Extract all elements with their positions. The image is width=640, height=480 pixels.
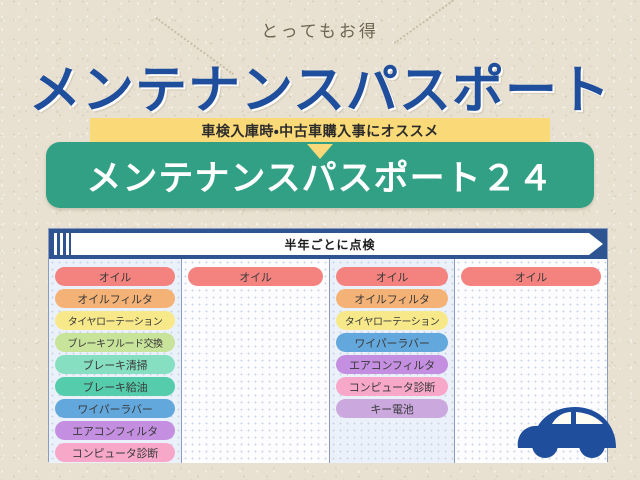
maintenance-item-pill: オイル	[336, 267, 448, 286]
plan-column-2: オイル	[182, 259, 330, 463]
maintenance-item-pill: ワイパーラバー	[55, 399, 175, 418]
kicker-dash-left-decoration	[133, 12, 251, 46]
maintenance-item-pill: エアコンフィルタ	[55, 421, 175, 440]
car-wheel-right-shape	[579, 432, 605, 458]
maintenance-item-pill: オイルフィルタ	[55, 289, 175, 308]
maintenance-item-pill: ブレーキ給油	[55, 377, 175, 396]
inspection-interval-label: 半年ごとに点検	[284, 236, 375, 253]
maintenance-item-pill: エアコンフィルタ	[336, 355, 448, 374]
recommend-banner-notch-icon	[307, 144, 333, 159]
plan-column-1: オイルオイルフィルタタイヤローテーションブレーキフルード交換ブレーキ清掃ブレーキ…	[49, 259, 182, 463]
plan-column-3: オイルオイルフィルタタイヤローテーションワイパーラバーエアコンフィルタコンピュー…	[330, 259, 455, 463]
arrow-tail-stripe-icon	[60, 233, 63, 255]
arrow-tail-stripe-icon	[66, 233, 69, 255]
maintenance-item-pill: オイル	[461, 267, 601, 286]
arrow-tail-stripe-icon	[54, 233, 57, 255]
maintenance-item-pill: コンピュータ診断	[336, 377, 448, 396]
maintenance-item-pill: ワイパーラバー	[336, 333, 448, 352]
inspection-interval-arrow-icon: 半年ごとに点検	[71, 233, 603, 255]
maintenance-item-pill: オイルフィルタ	[336, 289, 448, 308]
recommend-banner: 車検入庫時・中古車購入事にオススメ	[90, 118, 550, 144]
kicker-dash-right-decoration	[389, 12, 507, 46]
maintenance-item-pill: オイル	[55, 267, 175, 286]
maintenance-item-pill: ブレーキ清掃	[55, 355, 175, 374]
page-title: メンテナンスパスポート	[0, 48, 640, 123]
kicker-row: とってもお得	[0, 12, 640, 46]
kicker-text: とってもお得	[251, 17, 389, 42]
car-illustration-icon	[512, 398, 624, 464]
maintenance-item-pill: コンピュータ診断	[55, 443, 175, 462]
car-wheel-left-shape	[532, 432, 558, 458]
table-header-band: 半年ごとに点検	[49, 229, 607, 259]
maintenance-item-pill: タイヤローテーション	[55, 311, 175, 330]
maintenance-item-pill: タイヤローテーション	[336, 311, 448, 330]
maintenance-item-pill: キー電池	[336, 399, 448, 418]
maintenance-item-pill: ブレーキフルード交換	[55, 333, 175, 352]
recommend-banner-text: 車検入庫時・中古車購入事にオススメ	[201, 121, 438, 141]
maintenance-item-pill: オイル	[188, 267, 323, 286]
